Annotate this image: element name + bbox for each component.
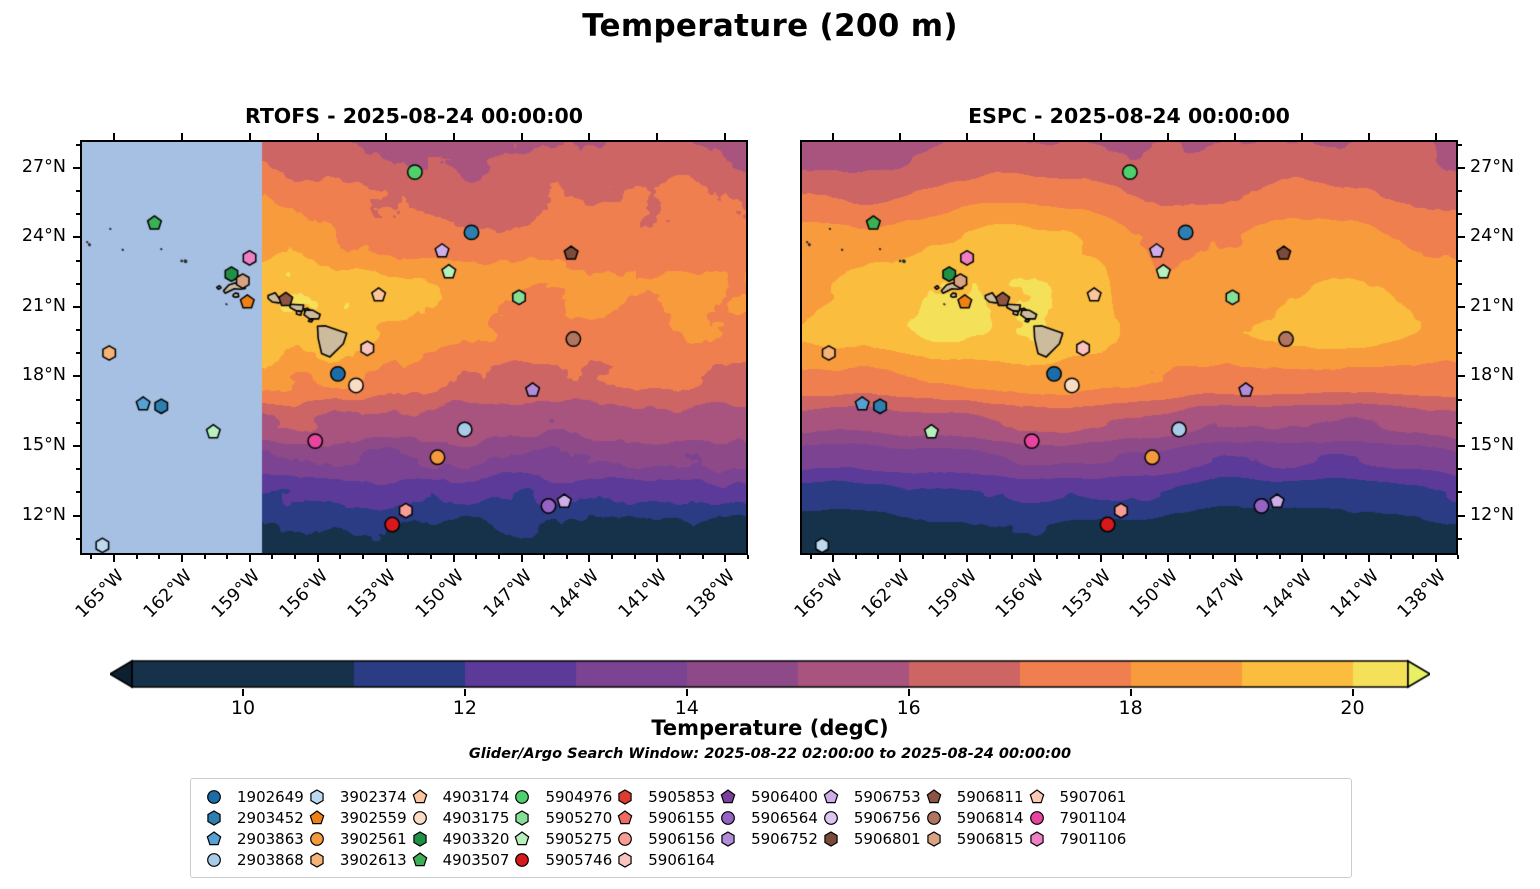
hexagon-marker-icon xyxy=(304,851,330,869)
legend-item-5906156[interactable]: 5906156 xyxy=(612,828,715,849)
y-tick-label: 27°N xyxy=(0,157,66,177)
y-tick-label: 24°N xyxy=(0,226,66,246)
legend-label: 5906400 xyxy=(741,788,818,806)
y-tick xyxy=(1458,306,1465,308)
legend-item-empty: 0000000 xyxy=(715,849,818,870)
legend-label: 2903868 xyxy=(227,851,304,869)
x-tick xyxy=(385,555,387,562)
x-top-tick xyxy=(966,133,968,140)
x-minor-tick xyxy=(90,555,92,559)
x-tick xyxy=(1167,555,1169,562)
legend-item-5906815[interactable]: 5906815 xyxy=(921,828,1024,849)
hexagon-marker-icon xyxy=(715,830,741,848)
pentagon-marker-icon xyxy=(407,851,433,869)
x-minor-tick xyxy=(339,555,341,559)
x-top-tick xyxy=(1368,133,1370,140)
y-tick xyxy=(73,167,80,169)
x-tick xyxy=(899,555,901,562)
y-tick-label: 24°N xyxy=(1470,226,1540,246)
colorbar-tick xyxy=(1130,689,1132,696)
pentagon-marker-icon xyxy=(304,809,330,827)
x-minor-tick xyxy=(634,555,636,559)
x-minor-tick xyxy=(1189,555,1191,559)
x-top-tick xyxy=(113,133,115,140)
y-minor-tick xyxy=(1458,468,1462,470)
hexagon-marker-icon xyxy=(509,809,535,827)
x-minor-tick xyxy=(877,555,879,559)
legend-item-5906811[interactable]: 5906811 xyxy=(921,786,1024,807)
circle-marker-icon xyxy=(509,851,535,869)
map-panel-espc[interactable] xyxy=(800,140,1458,555)
y-tick xyxy=(73,375,80,377)
legend-item-2903863[interactable]: 2903863 xyxy=(201,828,304,849)
x-minor-tick xyxy=(922,555,924,559)
x-top-tick xyxy=(656,133,658,140)
colorbar[interactable]: 101214161820 xyxy=(110,659,1430,689)
legend-item-1902649[interactable]: 1902649 xyxy=(201,786,304,807)
x-minor-tick xyxy=(498,555,500,559)
x-top-tick xyxy=(899,133,901,140)
x-tick xyxy=(113,555,115,562)
legend-column: 5907061790110479011060000000 xyxy=(1024,786,1127,870)
x-minor-tick xyxy=(679,555,681,559)
panel-title-espc: ESPC - 2025-08-24 00:00:00 xyxy=(800,104,1458,128)
x-minor-tick xyxy=(1145,555,1147,559)
legend-item-5905270[interactable]: 5905270 xyxy=(509,807,612,828)
x-minor-tick xyxy=(1412,555,1414,559)
y-minor-tick xyxy=(1458,352,1462,354)
colorbar-tick xyxy=(464,689,466,696)
legend-item-4903175[interactable]: 4903175 xyxy=(407,807,510,828)
legend-label: 3902559 xyxy=(330,809,407,827)
legend-label: 7901104 xyxy=(1050,809,1127,827)
y-tick xyxy=(1458,445,1465,447)
legend-column: 3902374390255939025613902613 xyxy=(304,786,407,870)
y-minor-tick xyxy=(76,538,80,540)
hexagon-marker-icon xyxy=(1024,830,1050,848)
legend-label: 5906756 xyxy=(844,809,921,827)
x-top-tick xyxy=(1301,133,1303,140)
legend-column: 5906811590681459068150000000 xyxy=(921,786,1024,870)
y-minor-tick xyxy=(76,422,80,424)
legend-item-empty: 0000000 xyxy=(921,849,1024,870)
x-minor-tick xyxy=(430,555,432,559)
float-legend[interactable]: 1902649290345229038632903868390237439025… xyxy=(190,778,1352,878)
x-minor-tick xyxy=(294,555,296,559)
y-minor-tick xyxy=(76,491,80,493)
hexagon-marker-icon xyxy=(921,830,947,848)
legend-label: 2903452 xyxy=(227,809,304,827)
x-minor-tick xyxy=(810,555,812,559)
legend-label: 5906814 xyxy=(947,809,1024,827)
colorbar-tick xyxy=(908,689,910,696)
legend-item-5905853[interactable]: 5905853 xyxy=(612,786,715,807)
legend-item-4903507[interactable]: 4903507 xyxy=(407,849,510,870)
legend-label: 5904976 xyxy=(535,788,612,806)
x-tick xyxy=(1368,555,1370,562)
x-minor-tick xyxy=(566,555,568,559)
y-minor-tick xyxy=(76,399,80,401)
y-minor-tick xyxy=(1458,329,1462,331)
x-minor-tick xyxy=(543,555,545,559)
y-minor-tick xyxy=(76,329,80,331)
x-minor-tick xyxy=(1345,555,1347,559)
legend-label: 5907061 xyxy=(1050,788,1127,806)
x-tick xyxy=(656,555,658,562)
y-minor-tick xyxy=(76,213,80,215)
legend-item-2903452[interactable]: 2903452 xyxy=(201,807,304,828)
legend-label: 4903507 xyxy=(433,851,510,869)
x-top-tick xyxy=(1167,133,1169,140)
legend-column: 5906753590675659068010000000 xyxy=(818,786,921,870)
x-minor-tick xyxy=(702,555,704,559)
y-minor-tick xyxy=(1458,538,1462,540)
y-tick xyxy=(1458,515,1465,517)
temperature-field-rtofs xyxy=(82,142,748,555)
legend-label: 1902649 xyxy=(227,788,304,806)
x-minor-tick xyxy=(204,555,206,559)
y-minor-tick xyxy=(1458,144,1462,146)
y-minor-tick xyxy=(76,283,80,285)
x-minor-tick xyxy=(1457,555,1459,559)
search-window-caption: Glider/Argo Search Window: 2025-08-22 02… xyxy=(0,746,1540,762)
y-tick xyxy=(1458,375,1465,377)
pentagon-marker-icon xyxy=(201,830,227,848)
y-minor-tick xyxy=(76,468,80,470)
legend-item-5907061[interactable]: 5907061 xyxy=(1024,786,1127,807)
y-tick-label: 12°N xyxy=(1470,505,1540,525)
y-tick-label: 18°N xyxy=(1470,365,1540,385)
hexagon-marker-icon xyxy=(612,851,638,869)
x-minor-tick xyxy=(1078,555,1080,559)
colorbar-tick xyxy=(1352,689,1354,696)
y-tick-label: 18°N xyxy=(0,365,66,385)
hexagon-marker-icon xyxy=(407,830,433,848)
pentagon-marker-icon xyxy=(1024,788,1050,806)
x-minor-tick xyxy=(475,555,477,559)
legend-label: 5905270 xyxy=(535,809,612,827)
x-minor-tick xyxy=(1056,555,1058,559)
x-minor-tick xyxy=(989,555,991,559)
circle-marker-icon xyxy=(509,788,535,806)
legend-label: 3902374 xyxy=(330,788,407,806)
colorbar-gradient xyxy=(110,659,1430,689)
legend-column: 5905853590615559061565906164 xyxy=(612,786,715,870)
x-tick xyxy=(832,555,834,562)
legend-item-3902613[interactable]: 3902613 xyxy=(304,849,407,870)
legend-label: 5906753 xyxy=(844,788,921,806)
legend-item-5905746[interactable]: 5905746 xyxy=(509,849,612,870)
legend-label: 2903863 xyxy=(227,830,304,848)
legend-item-3902559[interactable]: 3902559 xyxy=(304,807,407,828)
x-minor-tick xyxy=(1390,555,1392,559)
legend-label: 5906752 xyxy=(741,830,818,848)
y-tick xyxy=(73,445,80,447)
legend-label: 4903174 xyxy=(433,788,510,806)
x-top-tick xyxy=(1033,133,1035,140)
colorbar-label: Temperature (degC) xyxy=(0,716,1540,740)
hexagon-marker-icon xyxy=(612,788,638,806)
pentagon-marker-icon xyxy=(612,809,638,827)
y-tick-label: 15°N xyxy=(0,435,66,455)
x-minor-tick xyxy=(1212,555,1214,559)
colorbar-tick xyxy=(242,689,244,696)
legend-item-3902561[interactable]: 3902561 xyxy=(304,828,407,849)
circle-marker-icon xyxy=(612,830,638,848)
legend-item-empty: 0000000 xyxy=(1024,849,1127,870)
x-minor-tick xyxy=(136,555,138,559)
x-tick xyxy=(724,555,726,562)
legend-label: 5906156 xyxy=(638,830,715,848)
y-tick-label: 15°N xyxy=(1470,435,1540,455)
legend-item-5906564[interactable]: 5906564 xyxy=(715,807,818,828)
y-tick-label: 21°N xyxy=(1470,296,1540,316)
temperature-field-espc xyxy=(802,142,1458,555)
x-minor-tick xyxy=(158,555,160,559)
x-top-tick xyxy=(1100,133,1102,140)
x-tick xyxy=(249,555,251,562)
y-minor-tick xyxy=(1458,190,1462,192)
x-tick xyxy=(966,555,968,562)
y-minor-tick xyxy=(1458,491,1462,493)
legend-item-5904976[interactable]: 5904976 xyxy=(509,786,612,807)
legend-item-5906164[interactable]: 5906164 xyxy=(612,849,715,870)
hexagon-marker-icon xyxy=(201,809,227,827)
y-minor-tick xyxy=(76,352,80,354)
map-panel-rtofs[interactable] xyxy=(80,140,748,555)
x-minor-tick xyxy=(407,555,409,559)
legend-item-4903320[interactable]: 4903320 xyxy=(407,828,510,849)
legend-label: 5905275 xyxy=(535,830,612,848)
legend-item-empty: 0000000 xyxy=(818,849,921,870)
legend-label: 7901106 xyxy=(1050,830,1127,848)
x-top-tick xyxy=(249,133,251,140)
legend-item-5906756[interactable]: 5906756 xyxy=(818,807,921,828)
legend-label: 5906164 xyxy=(638,851,715,869)
x-minor-tick xyxy=(362,555,364,559)
circle-marker-icon xyxy=(921,809,947,827)
x-minor-tick xyxy=(1122,555,1124,559)
x-top-tick xyxy=(832,133,834,140)
legend-item-7901104[interactable]: 7901104 xyxy=(1024,807,1127,828)
legend-label: 3902561 xyxy=(330,830,407,848)
legend-item-5906801[interactable]: 5906801 xyxy=(818,828,921,849)
x-top-tick xyxy=(385,133,387,140)
panel-title-rtofs: RTOFS - 2025-08-24 00:00:00 xyxy=(80,104,748,128)
y-minor-tick xyxy=(1458,213,1462,215)
y-minor-tick xyxy=(1458,260,1462,262)
y-tick xyxy=(73,306,80,308)
legend-column: 4903174490317549033204903507 xyxy=(407,786,510,870)
x-minor-tick xyxy=(611,555,613,559)
x-tick xyxy=(181,555,183,562)
y-tick-label: 27°N xyxy=(1470,157,1540,177)
y-minor-tick xyxy=(1458,399,1462,401)
legend-column: 5906400590656459067520000000 xyxy=(715,786,818,870)
y-minor-tick xyxy=(76,144,80,146)
legend-label: 5906564 xyxy=(741,809,818,827)
legend-label: 4903320 xyxy=(433,830,510,848)
x-top-tick xyxy=(1435,133,1437,140)
pentagon-marker-icon xyxy=(921,788,947,806)
pentagon-marker-icon xyxy=(407,788,433,806)
circle-marker-icon xyxy=(304,830,330,848)
legend-item-5906155[interactable]: 5906155 xyxy=(612,807,715,828)
legend-label: 5906815 xyxy=(947,830,1024,848)
legend-label: 5905746 xyxy=(535,851,612,869)
pentagon-marker-icon xyxy=(818,788,844,806)
pentagon-marker-icon xyxy=(715,788,741,806)
x-tick xyxy=(521,555,523,562)
x-minor-tick xyxy=(1011,555,1013,559)
legend-item-5906753[interactable]: 5906753 xyxy=(818,786,921,807)
x-minor-tick xyxy=(271,555,273,559)
circle-marker-icon xyxy=(201,851,227,869)
colorbar-tick xyxy=(686,689,688,696)
y-tick-label: 12°N xyxy=(0,505,66,525)
x-tick xyxy=(1100,555,1102,562)
circle-marker-icon xyxy=(715,809,741,827)
x-top-tick xyxy=(1234,133,1236,140)
legend-item-5906752[interactable]: 5906752 xyxy=(715,828,818,849)
legend-item-3902374[interactable]: 3902374 xyxy=(304,786,407,807)
x-tick xyxy=(1234,555,1236,562)
pentagon-marker-icon xyxy=(509,830,535,848)
hexagon-marker-icon xyxy=(818,830,844,848)
circle-marker-icon xyxy=(1024,809,1050,827)
x-top-tick xyxy=(724,133,726,140)
circle-marker-icon xyxy=(407,809,433,827)
x-minor-tick xyxy=(1256,555,1258,559)
x-top-tick xyxy=(181,133,183,140)
legend-label: 5906811 xyxy=(947,788,1024,806)
circle-marker-icon xyxy=(818,809,844,827)
hexagon-marker-icon xyxy=(304,788,330,806)
legend-item-7901106[interactable]: 7901106 xyxy=(1024,828,1127,849)
x-tick xyxy=(1435,555,1437,562)
x-tick xyxy=(588,555,590,562)
x-top-tick xyxy=(453,133,455,140)
legend-label: 3902613 xyxy=(330,851,407,869)
y-tick xyxy=(1458,236,1465,238)
x-minor-tick xyxy=(1323,555,1325,559)
legend-column: 5904976590527059052755905746 xyxy=(509,786,612,870)
legend-label: 5906155 xyxy=(638,809,715,827)
x-tick xyxy=(317,555,319,562)
figure-title: Temperature (200 m) xyxy=(0,8,1540,44)
x-minor-tick xyxy=(747,555,749,559)
legend-item-5906400[interactable]: 5906400 xyxy=(715,786,818,807)
legend-label: 5906801 xyxy=(844,830,921,848)
y-tick xyxy=(73,236,80,238)
y-tick-label: 21°N xyxy=(0,296,66,316)
y-minor-tick xyxy=(76,190,80,192)
x-top-tick xyxy=(317,133,319,140)
x-minor-tick xyxy=(944,555,946,559)
legend-label: 4903175 xyxy=(433,809,510,827)
legend-item-5905275[interactable]: 5905275 xyxy=(509,828,612,849)
y-minor-tick xyxy=(1458,283,1462,285)
x-tick xyxy=(453,555,455,562)
circle-marker-icon xyxy=(201,788,227,806)
legend-item-2903868[interactable]: 2903868 xyxy=(201,849,304,870)
y-tick xyxy=(1458,167,1465,169)
y-tick xyxy=(73,515,80,517)
legend-item-4903174[interactable]: 4903174 xyxy=(407,786,510,807)
x-minor-tick xyxy=(855,555,857,559)
x-minor-tick xyxy=(226,555,228,559)
x-top-tick xyxy=(521,133,523,140)
legend-label: 5905853 xyxy=(638,788,715,806)
x-top-tick xyxy=(588,133,590,140)
legend-column: 1902649290345229038632903868 xyxy=(201,786,304,870)
y-minor-tick xyxy=(1458,422,1462,424)
x-tick xyxy=(1033,555,1035,562)
y-minor-tick xyxy=(76,260,80,262)
legend-item-5906814[interactable]: 5906814 xyxy=(921,807,1024,828)
x-minor-tick xyxy=(1279,555,1281,559)
x-tick xyxy=(1301,555,1303,562)
